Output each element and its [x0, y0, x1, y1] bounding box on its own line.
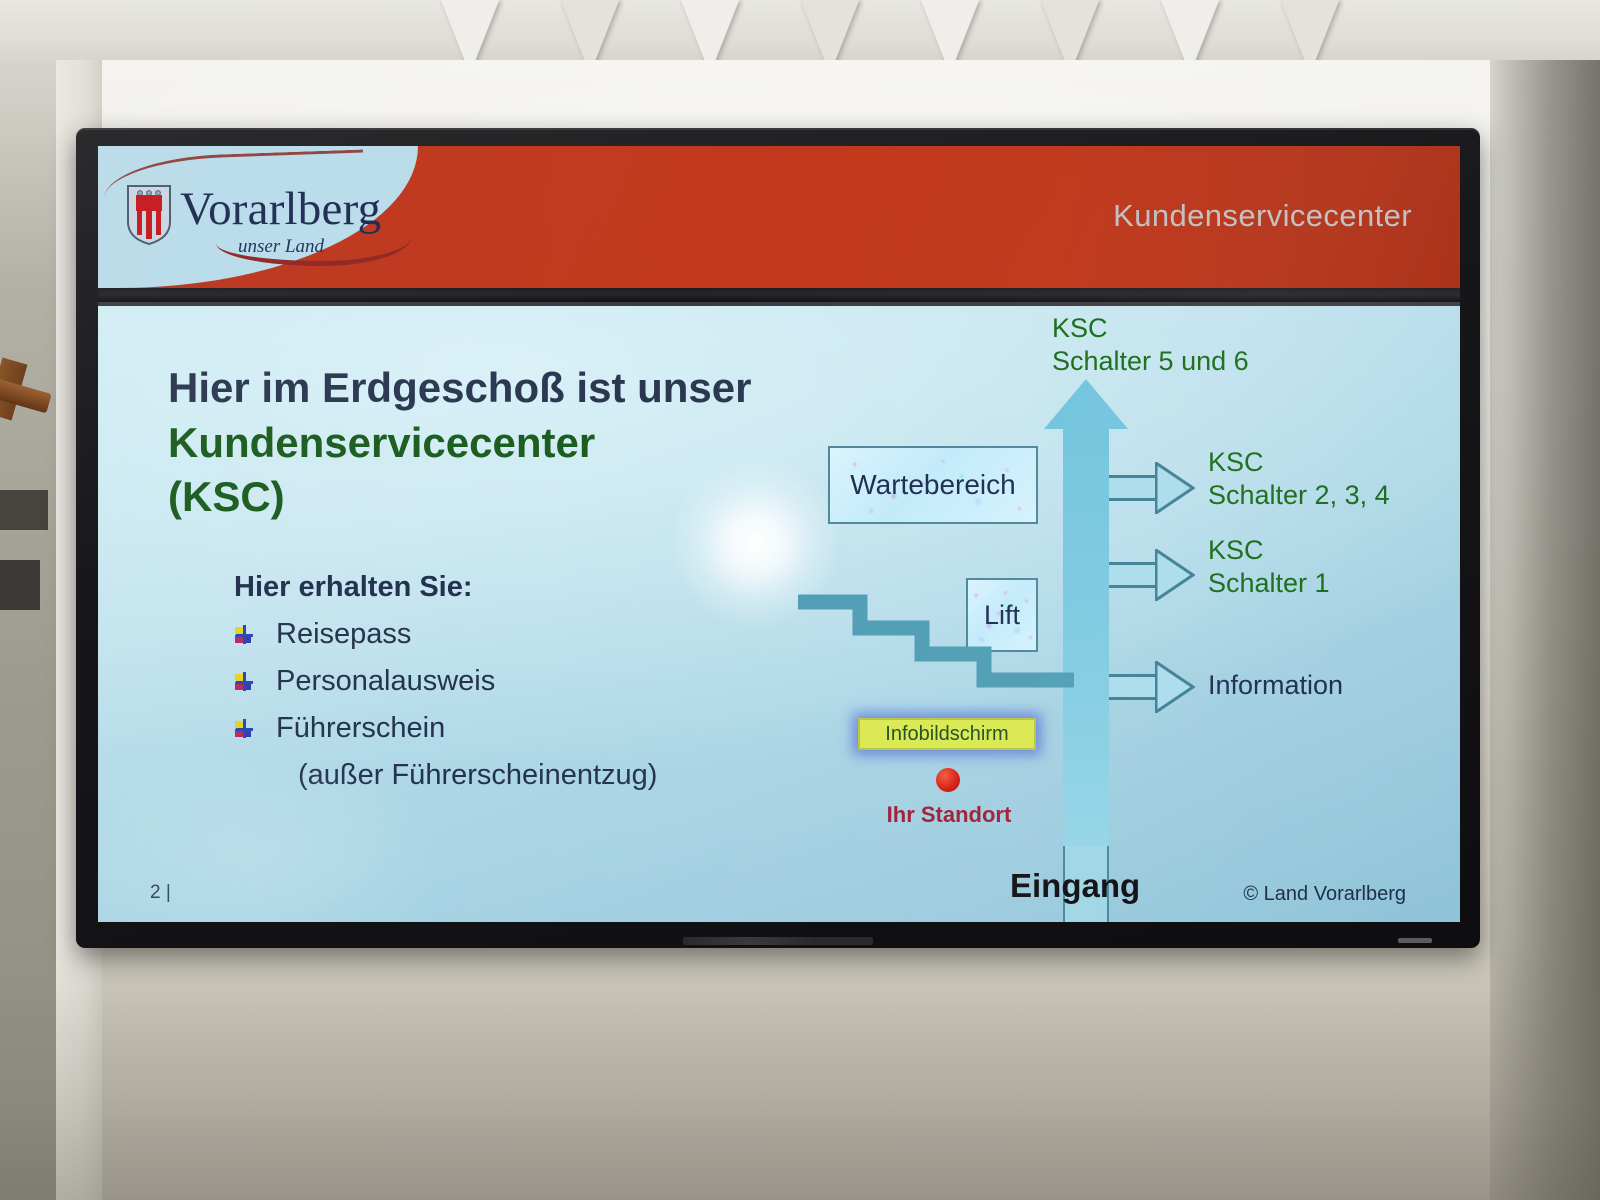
destination-label-2: KSC Schalter 1	[1208, 534, 1330, 600]
logo-subtitle: unser Land	[238, 236, 324, 258]
destination-3-line-1: Information	[1208, 669, 1343, 702]
list-item: Reisepass	[234, 618, 657, 651]
destination-2-line-2: Schalter 1	[1208, 567, 1330, 600]
pinwheel-bullet-icon	[234, 672, 254, 692]
services-list-heading: Hier erhalten Sie:	[234, 571, 657, 604]
slide-page-number: 2 |	[150, 882, 171, 904]
display-screen: Kundenservicecenter	[98, 146, 1460, 922]
up-arrow-head-icon	[1044, 379, 1128, 429]
display-chin-vent	[683, 937, 873, 945]
slide-title-line-1: Hier im Erdgeschoß ist unser	[168, 361, 752, 416]
header-title: Kundenservicecenter	[1113, 198, 1412, 234]
room-photo-scene: Kundenservicecenter	[0, 0, 1600, 1200]
destination-label-up: KSC Schalter 5 und 6	[1052, 312, 1249, 378]
wall-dark-panel	[0, 490, 48, 530]
info-screen-label: Infobildschirm	[885, 723, 1008, 746]
wall-shadow-bottom	[0, 940, 1600, 1200]
arrow-head-icon	[1155, 549, 1193, 601]
info-screen-box: Infobildschirm	[858, 718, 1036, 750]
header-divider	[98, 288, 1460, 302]
slide-copyright: © Land Vorarlberg	[1243, 883, 1406, 906]
room-wartebereich: Wartebereich	[828, 446, 1038, 524]
arrow-shaft	[1109, 674, 1159, 700]
wall-mounted-display: Kundenservicecenter	[76, 128, 1480, 948]
room-label: Wartebereich	[850, 469, 1015, 501]
arrow-shaft	[1109, 562, 1159, 588]
branch-arrow-3	[1109, 661, 1195, 713]
destination-1-line-2: Schalter 2, 3, 4	[1208, 479, 1390, 512]
slide-title-line-3: (KSC)	[168, 470, 752, 525]
slide-title: Hier im Erdgeschoß ist unser Kundenservi…	[168, 361, 752, 525]
list-item-label: Führerschein	[276, 712, 445, 745]
destination-up-line-1: KSC	[1052, 312, 1249, 345]
slide-title-line-2: Kundenservicecenter	[168, 416, 752, 471]
list-item-label: Personalausweis	[276, 665, 495, 698]
wall-dark-panel	[0, 560, 40, 610]
destination-label-1: KSC Schalter 2, 3, 4	[1208, 446, 1390, 512]
entrance-label: Eingang	[1010, 866, 1140, 906]
list-item-label: Reisepass	[276, 618, 411, 651]
logo-wordmark: Vorarlberg	[180, 182, 381, 236]
services-list: Hier erhalten Sie: Reisepass Personal	[234, 571, 657, 792]
display-power-led	[1398, 938, 1432, 943]
presentation-slide: Kundenservicecenter	[98, 146, 1460, 922]
pinwheel-bullet-icon	[234, 719, 254, 739]
destination-up-line-2: Schalter 5 und 6	[1052, 345, 1249, 378]
you-are-here-label: Ihr Standort	[864, 802, 1034, 829]
red-dot-marker	[936, 768, 960, 792]
arrow-shaft	[1109, 475, 1159, 501]
destination-1-line-1: KSC	[1208, 446, 1390, 479]
arrow-head-icon	[1155, 661, 1193, 713]
destination-label-3: Information	[1208, 669, 1343, 702]
list-item-continuation: (außer Führerscheinentzug)	[298, 759, 657, 792]
pinwheel-bullet-icon	[234, 625, 254, 645]
vorarlberg-coat-of-arms-icon	[126, 184, 172, 246]
arrow-head-icon	[1155, 462, 1193, 514]
floorplan-diagram: KSC Schalter 5 und 6 Wartebereich Lift	[798, 306, 1460, 922]
branch-arrow-2	[1109, 549, 1195, 601]
staircase-icon	[798, 594, 1074, 706]
slide-body: Hier im Erdgeschoß ist unser Kundenservi…	[98, 306, 1460, 922]
list-item: Personalausweis	[234, 665, 657, 698]
destination-2-line-1: KSC	[1208, 534, 1330, 567]
list-item: Führerschein	[234, 712, 657, 745]
branch-arrow-1	[1109, 462, 1195, 514]
